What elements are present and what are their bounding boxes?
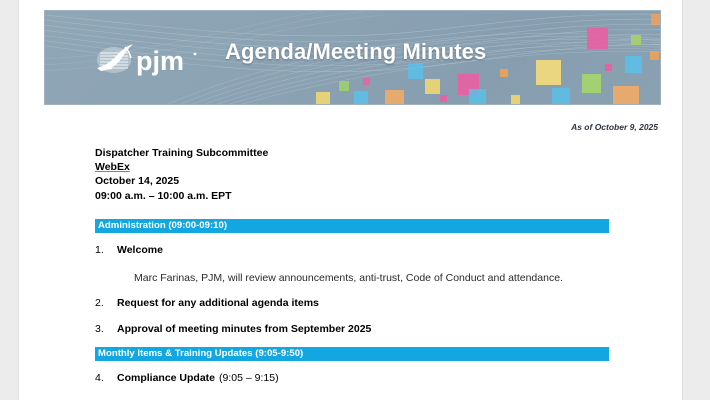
agenda-item-3: 3.Approval of meeting minutes from Septe… — [95, 323, 615, 335]
as-of-date: As of October 9, 2025 — [571, 122, 658, 132]
svg-text:pjm: pjm — [136, 46, 184, 76]
document-page: pjm Agenda/Meeting Minutes — [18, 0, 683, 400]
meeting-date: October 14, 2025 — [95, 174, 268, 188]
agenda-item-3-number: 3. — [95, 323, 117, 335]
meeting-time: 09:00 a.m. – 10:00 a.m. EPT — [95, 189, 268, 203]
agenda-item-4-time: (9:05 – 9:15) — [219, 372, 279, 384]
page-banner: pjm Agenda/Meeting Minutes — [44, 10, 661, 105]
agenda-item-1-number: 1. — [95, 244, 117, 256]
agenda-item-4-title: Compliance Update — [117, 372, 215, 384]
committee-name: Dispatcher Training Subcommittee — [95, 146, 268, 160]
agenda-item-1-body: Marc Farinas, PJM, will review announcem… — [134, 272, 563, 284]
section-header-monthly-items: Monthly Items & Training Updates (9:05-9… — [95, 347, 609, 361]
agenda-item-2-title: Request for any additional agenda items — [117, 297, 319, 309]
agenda-item-2-number: 2. — [95, 297, 117, 309]
banner-title: Agenda/Meeting Minutes — [225, 39, 486, 65]
agenda-item-1-title: Welcome — [117, 244, 163, 256]
agenda-item-4-number: 4. — [95, 372, 117, 384]
agenda-item-4: 4.Compliance Update(9:05 – 9:15) — [95, 372, 615, 384]
document-viewport: pjm Agenda/Meeting Minutes — [0, 0, 710, 400]
agenda-item-1: 1.Welcome — [95, 244, 615, 256]
section-header-administration: Administration (09:00-09:10) — [95, 219, 609, 233]
agenda-item-3-title: Approval of meeting minutes from Septemb… — [117, 323, 371, 335]
agenda-item-2: 2.Request for any additional agenda item… — [95, 297, 615, 309]
webex-link[interactable]: WebEx — [95, 161, 130, 173]
pjm-logo: pjm — [95, 41, 200, 77]
meeting-header: Dispatcher Training Subcommittee WebEx O… — [95, 146, 268, 203]
